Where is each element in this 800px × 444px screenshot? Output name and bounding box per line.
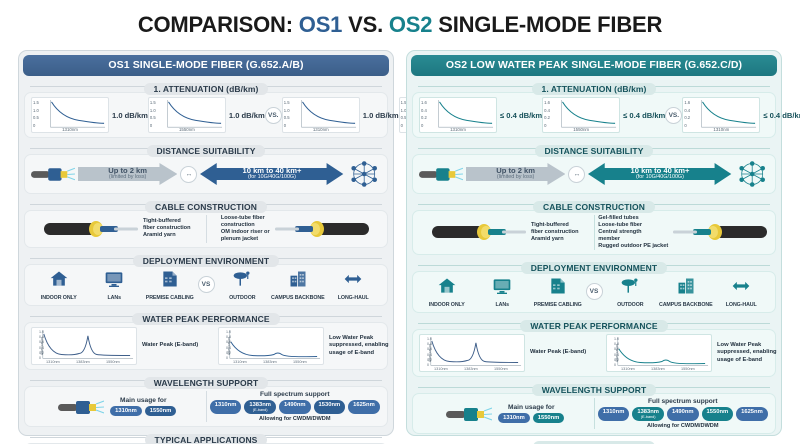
attenuation-mini-chart: 1.60.40.201310nm — [682, 97, 760, 133]
attenuation-mini-chart: 1.51.00.501550nm — [148, 97, 226, 133]
wavelength-pill[interactable]: 1625nm — [348, 400, 380, 414]
distance-arrow-long: 10 km to 40 km+(for 10G/40G/100G) — [200, 162, 343, 186]
attenuation-x-tick: 1550nm — [543, 127, 619, 132]
vs-badge-distance: ↔ — [568, 166, 585, 183]
vs-badge: VS. — [265, 107, 282, 124]
water-peak-right-note: Low Water Peak suppressed, enabling usag… — [329, 335, 401, 358]
section-attenuation: 1. ATTENUATION (dB/km)1.51.00.501310nm1.… — [24, 79, 388, 138]
distance-arrow-short: Up to 2 km(limited by loss) — [466, 163, 565, 185]
icon-item[interactable]: OUTDOOR — [215, 269, 269, 301]
icon-label: OUTDOOR — [229, 295, 255, 301]
section-title: 1. ATTENUATION (dB/km) — [144, 83, 269, 95]
fiber-connector-graphic — [446, 405, 492, 423]
wavelength-pill[interactable]: 1490nm — [279, 400, 311, 414]
wavelength-right-title: Full spectrum support — [260, 391, 330, 398]
section-wavelength: WAVELENGTH SUPPORTMain usage for1310nm15… — [412, 380, 776, 434]
section-applications: TYPICAL APPLICATIONSINDOOR CABLINGLAN & … — [24, 430, 388, 444]
distance-arrow-long: 10 km to 40 km+(for 10G/40G/100G) — [588, 162, 731, 186]
water-peak-left-note: Water Peak (E-band) — [142, 342, 214, 350]
cable-label: Loose-tube fiber — [598, 222, 668, 229]
icon-item[interactable]: INDOOR ONLY — [420, 276, 474, 308]
cable-label: plenum jacket — [221, 236, 270, 243]
house-icon — [49, 269, 69, 294]
distance-long-sub: (for 10G/40G/100G) — [631, 175, 690, 181]
section-title: DISTANCE SUITABILITY — [535, 145, 654, 157]
cable-label: Gel-filled tubes — [598, 215, 668, 222]
title-os1: OS1 — [299, 12, 342, 37]
vs-badge-distance: ↔ — [180, 166, 197, 183]
wavelength-pill[interactable]: 1310nm — [110, 406, 142, 416]
wavelength-footer: Allowing for CWDM/DWDM — [647, 423, 718, 429]
icon-item[interactable]: LANs — [475, 276, 529, 308]
attenuation-value: ≤ 0.4 dB/km — [763, 111, 800, 120]
section-title: WAVELENGTH SUPPORT — [144, 377, 269, 389]
panel-os2: OS2 LOW WATER PEAK SINGLE-MODE FIBER (G.… — [406, 50, 782, 436]
antenna-icon — [232, 269, 252, 294]
icon-item[interactable]: PREMISE CABLING — [143, 269, 197, 301]
双arrow-icon — [731, 276, 751, 301]
wavelength-pill[interactable]: 1530nm — [314, 400, 346, 414]
icon-label: LANs — [108, 295, 121, 301]
building-icon — [548, 276, 568, 301]
attenuation-x-tick: 1310nm — [683, 127, 759, 132]
section-deployment: DEPLOYMENT ENVIRONMENTINDOOR ONLYLANsPRE… — [412, 258, 776, 313]
section-title: WAVELENGTH SUPPORT — [532, 384, 657, 396]
cable-label: Loose-tube fiber — [221, 215, 270, 222]
section-title: 1. ATTENUATION (dB/km) — [532, 83, 657, 95]
wavelength-right-title: Full spectrum support — [648, 398, 718, 405]
vs-badge-deployment: VS — [198, 276, 215, 293]
icon-label: INDOOR ONLY — [429, 302, 465, 308]
wavelength-pill[interactable]: 1625nm — [736, 407, 768, 421]
attenuation-mini-chart: 1.51.00.501310nm — [282, 97, 360, 133]
vs-badge: VS. — [665, 107, 682, 124]
icon-label: LONG-HAUL — [726, 302, 757, 308]
antenna-icon — [620, 276, 640, 301]
attenuation-value: 1.0 dB/km — [229, 111, 265, 120]
wavelength-pill[interactable]: 1550nm — [702, 407, 734, 421]
section-title: CABLE CONSTRUCTION — [145, 201, 267, 213]
title-prefix: COMPARISON: — [138, 12, 299, 37]
panel-os1-header: OS1 SINGLE-MODE FIBER (G.652.A/B) — [23, 55, 389, 76]
attenuation-x-tick: 1310nm — [420, 127, 496, 132]
icon-item[interactable]: CAMPUS BACKBONE — [659, 276, 713, 308]
icon-item[interactable]: PREMISE CABLING — [531, 276, 585, 308]
section-cable-construction: CABLE CONSTRUCTIONTight-bufferedfiber co… — [412, 197, 776, 255]
wavelength-pill[interactable]: 1310nm — [598, 407, 630, 421]
icon-label: LONG-HAUL — [338, 295, 369, 301]
distance-long-sub: (for 10G/40G/100G) — [243, 175, 302, 181]
section-water-peak: WATER PEAK PERFORMANCEAttenuation1.00.80… — [24, 309, 388, 370]
wavelength-pill[interactable]: 1550nm — [533, 413, 565, 423]
attenuation-value: 1.0 dB/km — [112, 111, 148, 120]
fiber-cable-graphic — [273, 217, 369, 241]
section-cable-construction: CABLE CONSTRUCTIONTight-bufferedfiber co… — [24, 197, 388, 248]
icon-item[interactable]: INDOOR ONLY — [32, 269, 86, 301]
cable-label: Tight-buffered — [531, 222, 579, 229]
network-mesh-icon — [735, 159, 769, 189]
wavelength-pill[interactable]: 1383nm(E-band) — [244, 400, 276, 414]
cable-label: fiber construction — [143, 225, 191, 232]
cable-label: Aramid yarn — [531, 236, 579, 243]
distance-short-sub: (limited by loss) — [496, 175, 535, 181]
icon-item[interactable]: LONG-HAUL — [326, 269, 380, 301]
wavelength-pill-sub: (E-band) — [249, 408, 271, 412]
cable-label: Aramid yarn — [143, 232, 191, 239]
section-distance: DISTANCE SUITABILITYUp to 2 km(limited b… — [24, 141, 388, 194]
cable-label: Rugged outdoor PE jacket — [598, 243, 668, 250]
icon-label: INDOOR ONLY — [41, 295, 77, 301]
attenuation-mini-chart: 1.60.40.201310nm — [419, 97, 497, 133]
panel-os2-header: OS2 LOW WATER PEAK SINGLE-MODE FIBER (G.… — [411, 55, 777, 76]
house-icon — [437, 276, 457, 301]
section-title: CABLE CONSTRUCTION — [533, 201, 655, 213]
water-peak-chart: Attenuation1.00.80.60.40.201310nm1383nm1… — [419, 334, 525, 372]
attenuation-x-tick: 1310nm — [32, 127, 108, 132]
icon-label: PREMISE CABLING — [146, 295, 194, 301]
wavelength-pill[interactable]: 1310nm — [210, 400, 242, 414]
icon-item[interactable]: CAMPUS BACKBONE — [271, 269, 325, 301]
icon-item[interactable]: LONG-HAUL — [714, 276, 768, 308]
wavelength-pill[interactable]: 1383nm(E-band) — [632, 407, 664, 421]
water-peak-right-note: Low Water Peak suppressed, enabling usag… — [717, 342, 789, 365]
vs-badge-deployment: VS — [586, 283, 603, 300]
wavelength-footer: Allowing for CWDM/DWDM — [259, 416, 330, 422]
icon-item[interactable]: OUTDOOR — [603, 276, 657, 308]
distance-short-sub: (limited by loss) — [108, 175, 147, 181]
water-peak-chart: Attenuation1.00.80.60.40.201310nm1383nm1… — [31, 327, 137, 365]
fiber-cable-graphic — [432, 220, 528, 244]
cable-label: fiber construction — [531, 229, 579, 236]
section-title: WATER PEAK PERFORMANCE — [132, 313, 279, 325]
section-wavelength: WAVELENGTH SUPPORTMain usage for1310nm15… — [24, 373, 388, 427]
attenuation-value: 1.0 dB/km — [363, 111, 399, 120]
section-water-peak: WATER PEAK PERFORMANCEAttenuation1.00.80… — [412, 316, 776, 377]
title-mid: VS. — [342, 12, 389, 37]
page-title: COMPARISON: OS1 VS. OS2 SINGLE-MODE FIBE… — [0, 12, 800, 38]
attenuation-x-tick: 1310nm — [283, 127, 359, 132]
section-title: WATER PEAK PERFORMANCE — [520, 320, 667, 332]
monitor-icon — [104, 269, 124, 294]
wavelength-left-title: Main usage for — [120, 397, 167, 404]
panel-os1: OS1 SINGLE-MODE FIBER (G.652.A/B) 1. ATT… — [18, 50, 394, 436]
section-applications: TYPICAL APPLICATIONSINDOOR CABLINGLAN & … — [412, 437, 776, 444]
section-distance: DISTANCE SUITABILITYUp to 2 km(limited b… — [412, 141, 776, 194]
attenuation-value: ≤ 0.4 dB/km — [623, 111, 665, 120]
fiber-connector-graphic — [31, 165, 75, 183]
icon-label: OUTDOOR — [617, 302, 643, 308]
title-suffix: SINGLE-MODE FIBER — [432, 12, 662, 37]
icon-item[interactable]: LANs — [87, 269, 141, 301]
cable-label: Tight-buffered — [143, 218, 191, 225]
双arrow-icon — [343, 269, 363, 294]
icon-label: CAMPUS BACKBONE — [271, 295, 325, 301]
title-os2: OS2 — [389, 12, 432, 37]
section-attenuation: 1. ATTENUATION (dB/km)1.60.40.201310nm≤ … — [412, 79, 776, 138]
campus-icon — [676, 276, 696, 301]
fiber-cable-graphic — [671, 220, 767, 244]
section-title: DISTANCE SUITABILITY — [147, 145, 266, 157]
cable-label: OM indoor riser or — [221, 229, 270, 236]
cable-label: Central strength — [598, 229, 668, 236]
monitor-icon — [492, 276, 512, 301]
fiber-connector-graphic — [419, 165, 463, 183]
wavelength-pill[interactable]: 1490nm — [667, 407, 699, 421]
network-mesh-icon — [347, 159, 381, 189]
distance-arrow-short: Up to 2 km(limited by loss) — [78, 163, 177, 185]
icon-label: LANs — [496, 302, 509, 308]
wavelength-pill-sub: (E-band) — [637, 415, 659, 419]
section-title: DEPLOYMENT ENVIRONMENT — [133, 255, 279, 267]
fiber-connector-graphic — [58, 398, 104, 416]
campus-icon — [288, 269, 308, 294]
section-title: TYPICAL APPLICATIONS — [145, 434, 268, 444]
wavelength-left-title: Main usage for — [508, 404, 555, 411]
section-deployment: DEPLOYMENT ENVIRONMENTINDOOR ONLYLANsPRE… — [24, 251, 388, 306]
building-icon — [160, 269, 180, 294]
infographic-root: COMPARISON: OS1 VS. OS2 SINGLE-MODE FIBE… — [0, 0, 800, 444]
cable-label: construction — [221, 222, 270, 229]
fiber-cable-graphic — [44, 217, 140, 241]
icon-label: CAMPUS BACKBONE — [659, 302, 713, 308]
wavelength-pill[interactable]: 1550nm — [145, 406, 177, 416]
attenuation-mini-chart: 1.51.00.501310nm — [31, 97, 109, 133]
icon-label: PREMISE CABLING — [534, 302, 582, 308]
cable-label: member — [598, 236, 668, 243]
attenuation-x-tick: 1550nm — [149, 127, 225, 132]
water-peak-chart: Attenuation1.00.80.60.40.201310nm1383nm1… — [606, 334, 712, 372]
attenuation-value: ≤ 0.4 dB/km — [500, 111, 542, 120]
wavelength-pill[interactable]: 1310nm — [498, 413, 530, 423]
water-peak-chart: Attenuation1.00.80.60.40.201310nm1383nm1… — [218, 327, 324, 365]
water-peak-left-note: Water Peak (E-band) — [530, 349, 602, 357]
section-title: DEPLOYMENT ENVIRONMENT — [521, 262, 667, 274]
attenuation-mini-chart: 1.60.40.201550nm — [542, 97, 620, 133]
